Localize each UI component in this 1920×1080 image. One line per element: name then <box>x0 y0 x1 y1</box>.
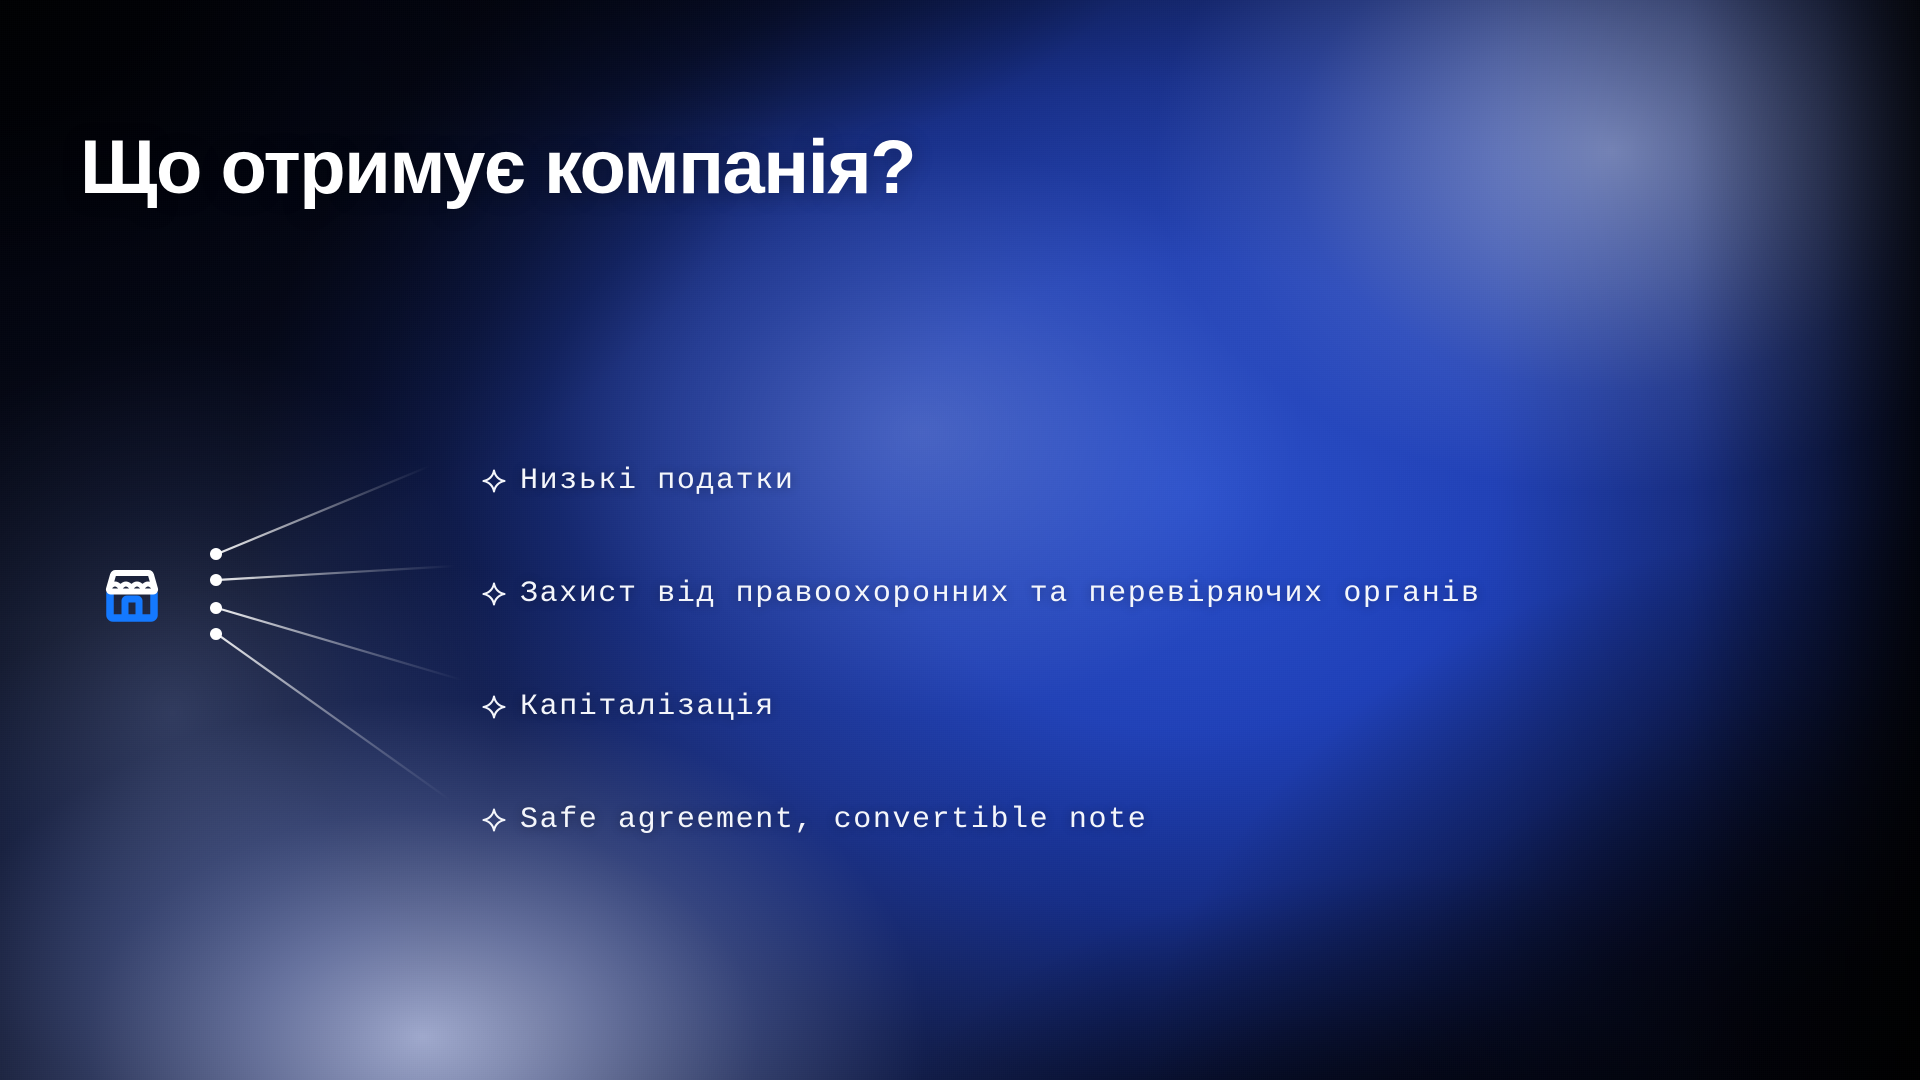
storefront-icon <box>99 562 165 628</box>
list-item: Низькі податки <box>482 424 1782 537</box>
benefits-list: Низькі податки Захист від правоохоронних… <box>482 424 1782 876</box>
list-item-label: Safe agreement, convertible note <box>520 803 1147 837</box>
list-item: Капіталізація <box>482 650 1782 763</box>
connector-dot-3 <box>210 602 222 614</box>
connector-line-2 <box>217 566 455 580</box>
connector-line-3 <box>217 608 462 680</box>
diamond-bullet-icon <box>482 695 520 719</box>
list-item-label: Низькі податки <box>520 464 794 498</box>
list-item: Захист від правоохоронних та перевіряючи… <box>482 537 1782 650</box>
connector-dot-4 <box>210 628 222 640</box>
list-item-label: Капіталізація <box>520 690 775 724</box>
slide-canvas: Що отримує компанія? <box>0 0 1920 1080</box>
diamond-bullet-icon <box>482 808 520 832</box>
connector-dot-2 <box>210 574 222 586</box>
page-title: Що отримує компанія? <box>80 128 915 208</box>
connector-dot-1 <box>210 548 222 560</box>
connector-line-1 <box>217 466 430 554</box>
connector-line-4 <box>217 634 450 800</box>
diamond-bullet-icon <box>482 582 520 606</box>
diamond-bullet-icon <box>482 469 520 493</box>
list-item: Safe agreement, convertible note <box>482 763 1782 876</box>
list-item-label: Захист від правоохоронних та перевіряючи… <box>520 577 1481 611</box>
